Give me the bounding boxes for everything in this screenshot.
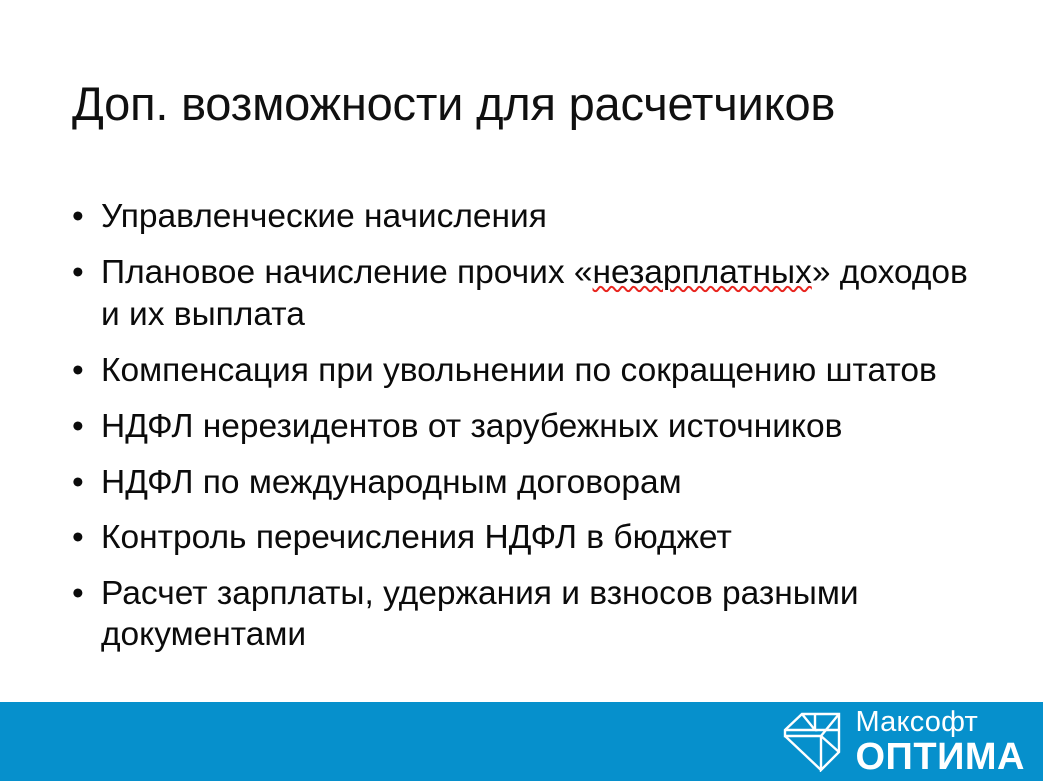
list-item[interactable]: •Плановое начисление прочих «незарплатны… xyxy=(70,252,970,335)
list-item-text: Компенсация при увольнении по сокращению… xyxy=(101,352,937,389)
list-item[interactable]: • НДФЛ нерезидентов от зарубежных источн… xyxy=(70,406,970,447)
maksoft-arrow-logo-icon xyxy=(783,712,841,772)
bullet-marker-icon: • xyxy=(72,573,84,614)
list-item[interactable]: • Управленческие начисления xyxy=(70,196,970,237)
logo-word-maksoft: Максофт xyxy=(856,708,1026,737)
list-item-text: НДФЛ по международным договорам xyxy=(101,464,682,501)
bullet-marker-icon: • xyxy=(72,517,84,558)
bullet-marker-icon: • xyxy=(72,462,84,503)
slide-bullet-list[interactable]: • Управленческие начисления •Плановое на… xyxy=(70,196,970,670)
list-item-text: Контроль перечисления НДФЛ в бюджет xyxy=(101,519,732,556)
bullet-marker-icon: • xyxy=(72,252,84,293)
list-item-text-prefix: Плановое начисление прочих « xyxy=(101,254,593,291)
presentation-slide: Доп. возможности для расчетчиков • Управ… xyxy=(0,0,1043,781)
list-item[interactable]: • Контроль перечисления НДФЛ в бюджет xyxy=(70,517,970,558)
list-item[interactable]: • НДФЛ по международным договорам xyxy=(70,462,970,503)
list-item-text: НДФЛ нерезидентов от зарубежных источник… xyxy=(101,408,842,445)
bullet-marker-icon: • xyxy=(72,350,84,391)
logo-wordmark: Максофт ОПТИМА xyxy=(856,708,1026,776)
slide-title[interactable]: Доп. возможности для расчетчиков xyxy=(72,78,972,131)
bullet-marker-icon: • xyxy=(72,406,84,447)
misspelled-word[interactable]: незарплатных xyxy=(593,254,812,291)
list-item-text: Расчет зарплаты, удержания и взносов раз… xyxy=(101,575,859,653)
logo-word-optima: ОПТИМА xyxy=(856,738,1026,776)
company-logo: Максофт ОПТИМА xyxy=(783,710,1026,774)
list-item[interactable]: • Расчет зарплаты, удержания и взносов р… xyxy=(70,573,970,656)
footer-bar: Максофт ОПТИМА xyxy=(0,702,1043,781)
list-item[interactable]: • Компенсация при увольнении по сокращен… xyxy=(70,350,970,391)
list-item-text: Управленческие начисления xyxy=(101,198,547,235)
bullet-marker-icon: • xyxy=(72,196,84,237)
